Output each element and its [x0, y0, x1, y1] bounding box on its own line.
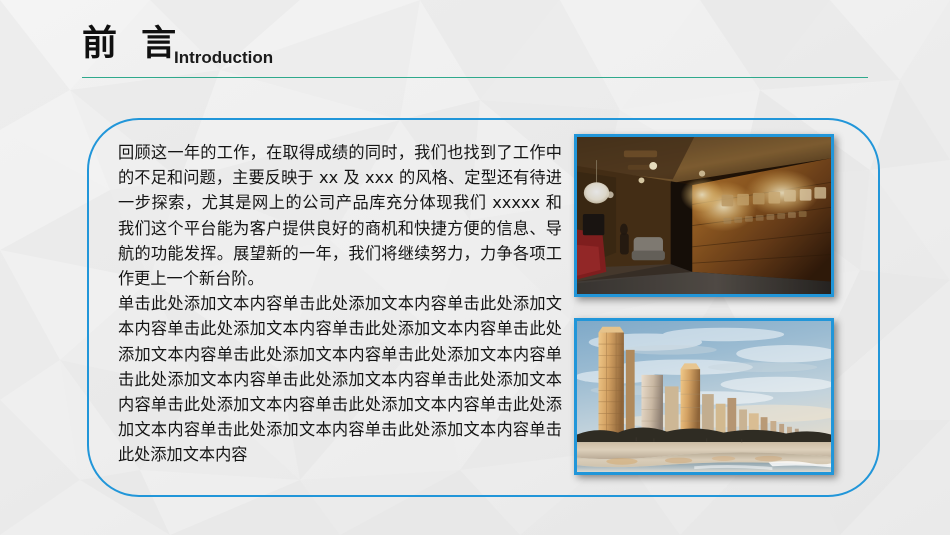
office-lobby-photo	[574, 134, 834, 297]
body-copy: 回顾这一年的工作，在取得成绩的同时，我们也找到了工作中的不足和问题，主要反映于 …	[118, 140, 562, 468]
page-title-en: Introduction	[174, 47, 273, 69]
header-divider-line	[82, 77, 868, 78]
body-paragraph-2: 单击此处添加文本内容单击此处添加文本内容单击此处添加文本内容单击此处添加文本内容…	[118, 291, 562, 467]
page-title-cn: 前 言	[82, 22, 182, 66]
slide-header: 前 言 Introduction	[82, 26, 872, 80]
body-paragraph-1: 回顾这一年的工作，在取得成绩的同时，我们也找到了工作中的不足和问题，主要反映于 …	[118, 140, 562, 291]
beach-skyline-photo	[574, 318, 834, 475]
slide-canvas: 前 言 Introduction 回顾这一年的工作，在取得成绩的同时，我们也找到…	[0, 0, 950, 535]
